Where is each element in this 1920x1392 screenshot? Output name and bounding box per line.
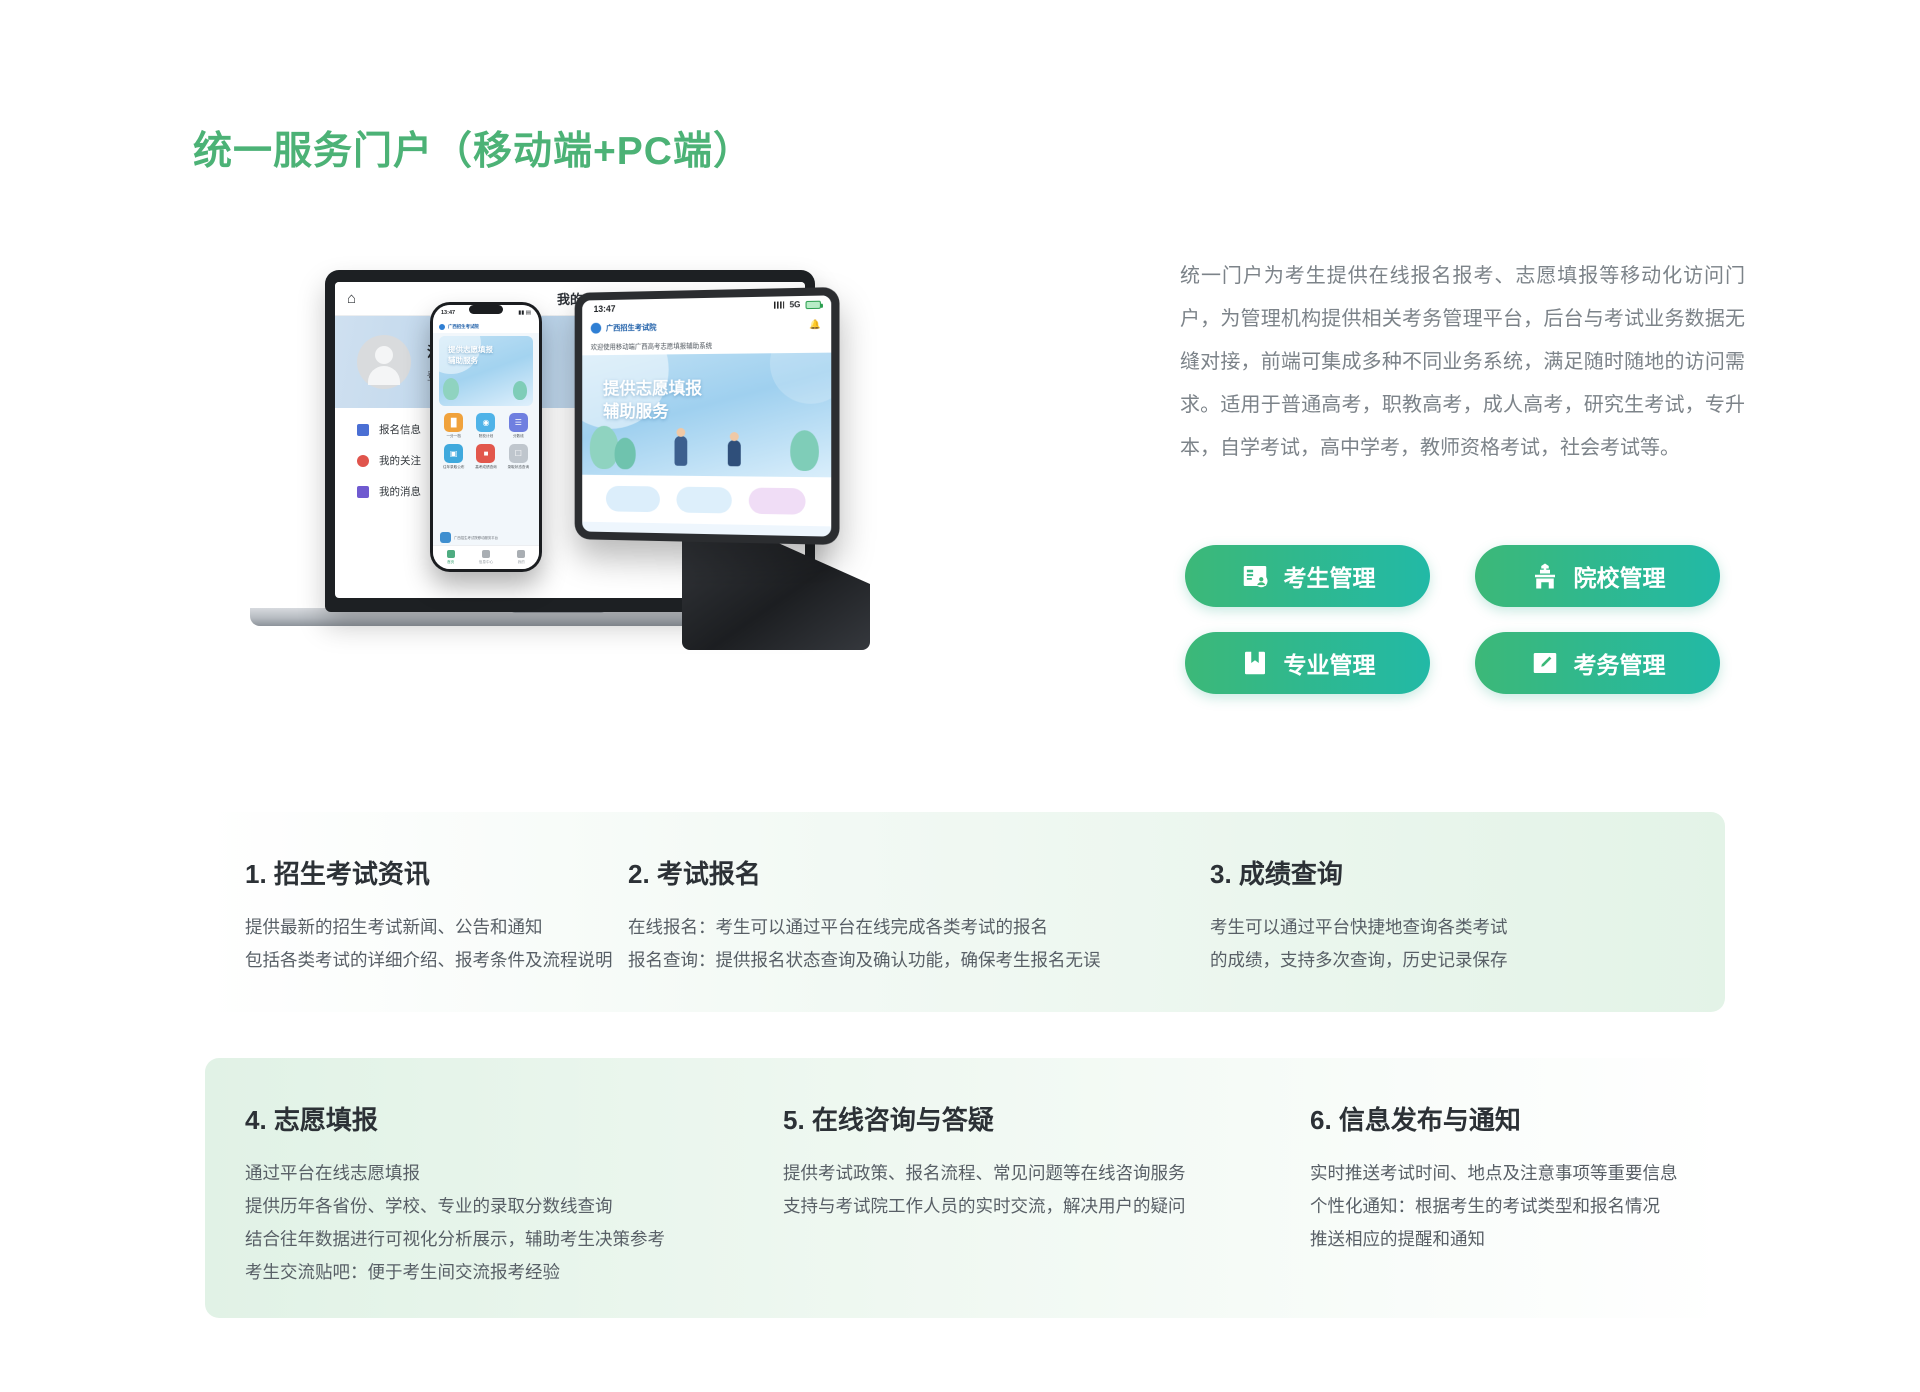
card-line: 考生可以通过平台快捷地查询各类考试 bbox=[1210, 911, 1508, 944]
feature-card-2: 2. 考试报名 在线报名：考生可以通过平台在线完成各类考试的报名 报名查询：提供… bbox=[628, 854, 1101, 977]
tab-home[interactable]: 首页 bbox=[433, 546, 468, 569]
tablet-screen: 13:47 5G 广西招生考试院 🔔 欢迎使用移动端广西高考志愿填报辅助系统 bbox=[582, 295, 831, 536]
grid-item-label: 录取状态查询 bbox=[508, 465, 530, 470]
grid-item[interactable]: ◉ 院校计划 bbox=[472, 413, 499, 439]
grid-item-label: 一分一档 bbox=[446, 434, 460, 439]
info-icon bbox=[482, 550, 490, 558]
intro-paragraph: 统一门户为考生提供在线报名报考、志愿填报等移动化访问门户，为管理机构提供相关考务… bbox=[1180, 255, 1745, 470]
book-bookmark-icon bbox=[1240, 648, 1270, 678]
card-title: 4. 志愿填报 bbox=[245, 1100, 665, 1137]
card-line: 提供历年各省份、学校、专业的录取分数线查询 bbox=[245, 1190, 665, 1223]
card-line: 实时推送考试时间、地点及注意事项等重要信息 bbox=[1310, 1157, 1678, 1190]
phone-mockup: 13:47 ▮▮ ▤ 广西招生考试院 提供志愿填报 辅助服务 bbox=[430, 302, 542, 572]
feature-cards-row-bottom: 4. 志愿填报 通过平台在线志愿填报 提供历年各省份、学校、专业的录取分数线查询… bbox=[205, 1058, 1725, 1318]
grid-item-label: 高考成绩查询 bbox=[475, 465, 497, 470]
button-label: 专业管理 bbox=[1284, 646, 1376, 680]
card-line: 通过平台在线志愿填报 bbox=[245, 1157, 665, 1190]
dock-item[interactable] bbox=[676, 487, 731, 514]
eye-icon: ◉ bbox=[476, 413, 495, 432]
card-line: 考生交流贴吧：便于考生间交流报考经验 bbox=[245, 1256, 665, 1289]
app-logo-icon bbox=[591, 322, 601, 333]
feature-card-6: 6. 信息发布与通知 实时推送考试时间、地点及注意事项等重要信息 个性化通知：根… bbox=[1310, 1100, 1678, 1256]
feature-card-1: 1. 招生考试资讯 提供最新的招生考试新闻、公告和通知 包括各类考试的详细介绍、… bbox=[245, 854, 613, 977]
button-label: 院校管理 bbox=[1574, 559, 1666, 593]
phone-notch bbox=[469, 305, 503, 314]
score-icon: ■ bbox=[476, 444, 495, 463]
app-logo-icon bbox=[439, 324, 445, 330]
app-brand: 广西招生考试院 bbox=[448, 324, 479, 330]
grid-item[interactable]: █ 一分一档 bbox=[440, 413, 467, 439]
banner-line-1: 提供志愿填报 bbox=[448, 345, 493, 354]
button-exam-affairs-management[interactable]: 考务管理 bbox=[1475, 632, 1720, 694]
phone-screen: 13:47 ▮▮ ▤ 广西招生考试院 提供志愿填报 辅助服务 bbox=[433, 305, 539, 569]
home-icon bbox=[447, 550, 455, 558]
tab-label: 信息中心 bbox=[479, 560, 493, 565]
button-label: 考生管理 bbox=[1284, 559, 1376, 593]
grid-item[interactable]: ☐ 录取状态查询 bbox=[505, 444, 532, 470]
grid-item-label: 院校计划 bbox=[479, 434, 493, 439]
card-title: 3. 成绩查询 bbox=[1210, 854, 1508, 891]
bell-icon[interactable]: 🔔 bbox=[809, 319, 821, 330]
tab-info-center[interactable]: 信息中心 bbox=[468, 546, 503, 569]
card-title: 5. 在线咨询与答疑 bbox=[783, 1100, 1186, 1137]
card-title: 6. 信息发布与通知 bbox=[1310, 1100, 1678, 1137]
phone-footer: 广西招生考试院移动服务平台 bbox=[433, 532, 539, 543]
status-time: 13:47 bbox=[594, 303, 616, 313]
tab-label: 首页 bbox=[447, 560, 454, 565]
dock-item[interactable] bbox=[749, 488, 806, 515]
battery-icon bbox=[806, 300, 821, 308]
feature-card-5: 5. 在线咨询与答疑 提供考试政策、报名流程、常见问题等在线咨询服务 支持与考试… bbox=[783, 1100, 1186, 1223]
card-line: 提供最新的招生考试新闻、公告和通知 bbox=[245, 911, 613, 944]
phone-app-header: 广西招生考试院 bbox=[433, 320, 539, 333]
phone-tabbar: 首页 信息中心 我的 bbox=[433, 545, 539, 569]
page-title: 统一服务门户（移动端+PC端） bbox=[193, 120, 753, 176]
feature-card-4: 4. 志愿填报 通过平台在线志愿填报 提供历年各省份、学校、专业的录取分数线查询… bbox=[245, 1100, 665, 1289]
tablet-mockup: 13:47 5G 广西招生考试院 🔔 欢迎使用移动端广西高考志愿填报辅助系统 bbox=[570, 290, 900, 645]
card-line: 结合往年数据进行可视化分析展示，辅助考生决策参考 bbox=[245, 1223, 665, 1256]
chart-icon: █ bbox=[444, 413, 463, 432]
device-mockup-group: ⌂ 我的 ••• 注册 | 登录 登录查看更多信息 bbox=[175, 250, 1105, 720]
grid-item[interactable]: ▣ 往年录取公布 bbox=[440, 444, 467, 470]
grid-item[interactable]: ☰ 分数线 bbox=[505, 413, 532, 439]
tablet-app-header: 广西招生考试院 🔔 bbox=[582, 313, 831, 339]
doc-icon: ▣ bbox=[444, 444, 463, 463]
button-candidate-management[interactable]: 考生管理 bbox=[1185, 545, 1430, 607]
dock-item[interactable] bbox=[606, 486, 660, 512]
tablet-dock bbox=[582, 475, 831, 527]
tablet-body: 13:47 5G 广西招生考试院 🔔 欢迎使用移动端广西高考志愿填报辅助系统 bbox=[575, 287, 840, 545]
status-icons: ▮▮ ▤ bbox=[518, 310, 531, 316]
user-icon bbox=[517, 550, 525, 558]
ruler-icon: ☰ bbox=[509, 413, 528, 432]
card-line: 个性化通知：根据考生的考试类型和报名情况 bbox=[1310, 1190, 1678, 1223]
card-line: 在线报名：考生可以通过平台在线完成各类考试的报名 bbox=[628, 911, 1101, 944]
phone-icon-grid: █ 一分一档 ◉ 院校计划 ☰ 分数线 ▣ 往年录取公布 bbox=[433, 406, 539, 470]
tablet-banner: 提供志愿填报 辅助服务 bbox=[582, 353, 831, 478]
status-time: 13:47 bbox=[441, 310, 455, 316]
banner-line-2: 辅助服务 bbox=[603, 402, 669, 421]
pencil-edit-icon bbox=[1530, 648, 1560, 678]
feature-button-grid: 考生管理 院校管理 专业管理 考务管理 bbox=[1185, 545, 1720, 694]
id-card-user-icon bbox=[1240, 561, 1270, 591]
banner-line-2: 辅助服务 bbox=[448, 356, 478, 365]
card-title: 2. 考试报名 bbox=[628, 854, 1101, 891]
portal-overview-page: 统一服务门户（移动端+PC端） ⌂ 我的 ••• bbox=[0, 0, 1920, 1392]
card-title: 1. 招生考试资讯 bbox=[245, 854, 613, 891]
signal-icon bbox=[774, 301, 784, 308]
button-major-management[interactable]: 专业管理 bbox=[1185, 632, 1430, 694]
phone-banner: 提供志愿填报 辅助服务 bbox=[439, 336, 533, 406]
network-label: 5G bbox=[790, 300, 801, 309]
feature-cards-row-top: 1. 招生考试资讯 提供最新的招生考试新闻、公告和通知 包括各类考试的详细介绍、… bbox=[205, 812, 1725, 1012]
tab-mine[interactable]: 我的 bbox=[504, 546, 539, 569]
status-icon: ☐ bbox=[509, 444, 528, 463]
heart-icon bbox=[357, 455, 369, 467]
list-item-label: 我的关注 bbox=[379, 453, 421, 468]
grid-item-label: 分数线 bbox=[513, 434, 524, 439]
card-line: 提供考试政策、报名流程、常见问题等在线咨询服务 bbox=[783, 1157, 1186, 1190]
grid-item[interactable]: ■ 高考成绩查询 bbox=[472, 444, 499, 470]
card-line: 的成绩，支持多次查询，历史记录保存 bbox=[1210, 944, 1508, 977]
banner-line-1: 提供志愿填报 bbox=[603, 379, 702, 398]
home-icon[interactable]: ⌂ bbox=[347, 290, 356, 307]
registration-icon bbox=[357, 424, 369, 436]
card-line: 推送相应的提醒和通知 bbox=[1310, 1223, 1678, 1256]
message-icon bbox=[357, 486, 369, 498]
button-label: 考务管理 bbox=[1574, 646, 1666, 680]
card-line: 报名查询：提供报名状态查询及确认功能，确保考生报名无误 bbox=[628, 944, 1101, 977]
grid-item-label: 往年录取公布 bbox=[443, 465, 465, 470]
card-line: 支持与考试院工作人员的实时交流，解决用户的疑问 bbox=[783, 1190, 1186, 1223]
button-school-management[interactable]: 院校管理 bbox=[1475, 545, 1720, 607]
card-line: 包括各类考试的详细介绍、报考条件及流程说明 bbox=[245, 944, 613, 977]
feature-card-3: 3. 成绩查询 考生可以通过平台快捷地查询各类考试 的成绩，支持多次查询，历史记… bbox=[1210, 854, 1508, 977]
list-item-label: 我的消息 bbox=[379, 484, 421, 499]
footer-text: 广西招生考试院移动服务平台 bbox=[454, 535, 498, 540]
avatar bbox=[357, 335, 411, 389]
tab-label: 我的 bbox=[518, 560, 525, 565]
org-logo-icon bbox=[440, 532, 451, 543]
list-item-label: 报名信息 bbox=[379, 422, 421, 437]
school-building-icon bbox=[1530, 561, 1560, 591]
app-brand: 广西招生考试院 bbox=[606, 321, 657, 333]
